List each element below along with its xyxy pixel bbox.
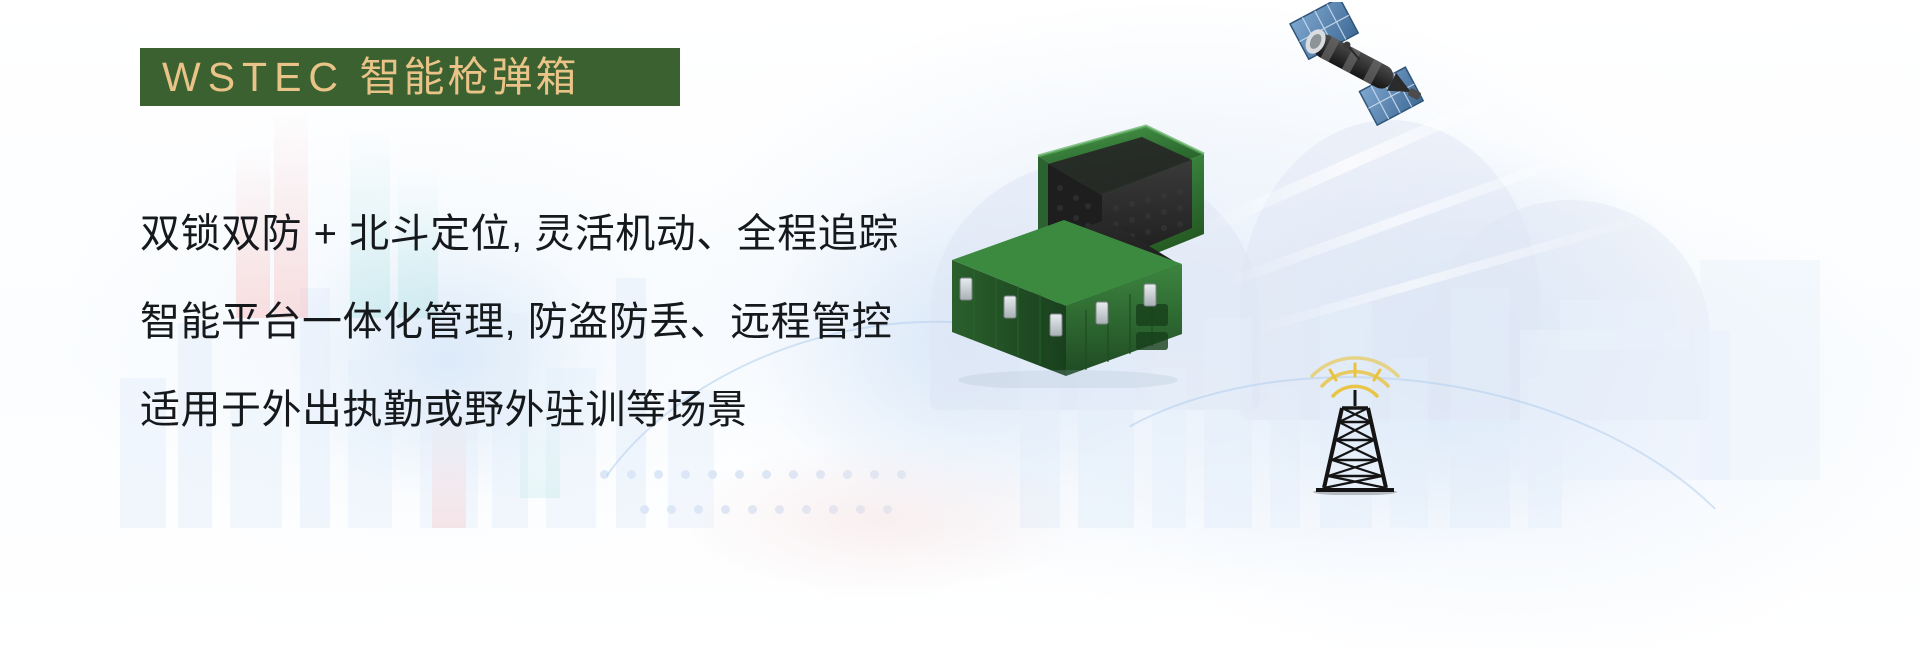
feature-line-3: 适用于外出执勤或野外驻训等场景 <box>140 366 1020 454</box>
antenna-tower-icon <box>1300 350 1410 495</box>
signal-rays <box>1330 364 1380 380</box>
promotional-banner: WSTEC 智能枪弹箱 双锁双防 + 北斗定位, 灵活机动、全程追踪 智能平台一… <box>0 0 1920 648</box>
feature-line-1: 双锁双防 + 北斗定位, 灵活机动、全程追踪 <box>140 190 1020 278</box>
watermark-stripe <box>1247 209 1663 336</box>
feature-list: 双锁双防 + 北斗定位, 灵活机动、全程追踪 智能平台一体化管理, 防盗防丢、远… <box>140 190 1020 454</box>
watermark-blob <box>1150 80 1770 600</box>
green-ammunition-case-photo <box>936 108 1236 388</box>
satellite-icon <box>1286 2 1436 132</box>
watermark-dome <box>1430 200 1710 420</box>
watermark-dot-row <box>600 470 906 479</box>
satellite-antenna-tip <box>1344 42 1351 49</box>
title-bar: WSTEC 智能枪弹箱 <box>140 48 680 106</box>
watermark-dot-row <box>640 505 892 514</box>
product-name: 智能枪弹箱 <box>359 54 579 100</box>
page-title: WSTEC 智能枪弹箱 <box>140 57 579 98</box>
watermark-block <box>1560 300 1690 350</box>
watermark-stripe <box>1222 122 1658 289</box>
brand-name: WSTEC <box>162 54 345 100</box>
watermark-block <box>1700 260 1820 480</box>
feature-line-2: 智能平台一体化管理, 防盗防丢、远程管控 <box>140 278 1020 366</box>
tower-structure <box>1316 390 1394 490</box>
watermark-block <box>1520 330 1730 480</box>
